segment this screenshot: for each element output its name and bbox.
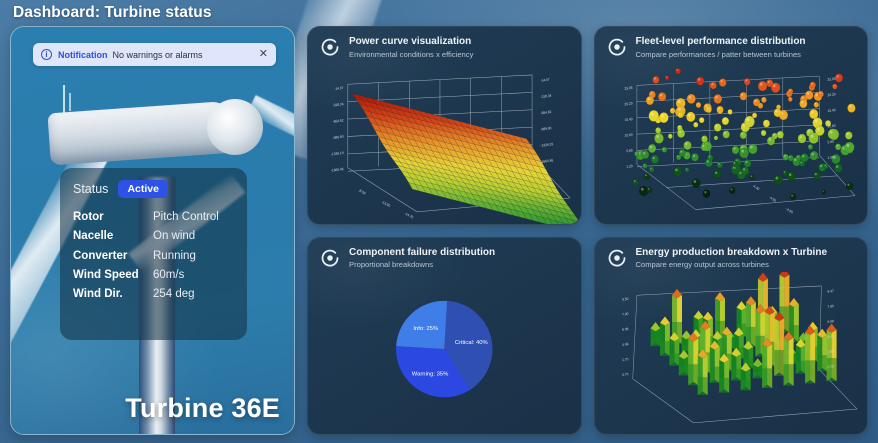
svg-text:Warning: 35%: Warning: 35% — [412, 371, 449, 377]
x-axis-ticks: -4.40-4.50-4.65 — [751, 184, 793, 215]
notification-banner[interactable]: i Notification No warnings or alarms ✕ — [33, 43, 276, 66]
svg-text:15.40: 15.40 — [827, 108, 836, 113]
svg-text:0.70: 0.70 — [827, 364, 834, 369]
turbine-name: Turbine 36E — [125, 393, 280, 424]
card-title: Power curve visualization — [349, 36, 473, 49]
card-title: Fleet-level performance distribution — [636, 36, 806, 49]
card-title-group: Component failure distribution Proportio… — [349, 247, 495, 270]
svg-text:-4.65: -4.65 — [785, 207, 793, 215]
spec-key: Nacelle — [73, 228, 153, 244]
dashboard-layout: i Notification No warnings or alarms ✕ S… — [0, 26, 878, 443]
plot-power-curve[interactable]: -14.07-318.34-654.62-989.90-1326.19-1660… — [308, 61, 581, 224]
spec-row-rotor: Rotor Pitch Control — [73, 209, 234, 225]
card-title: Energy production breakdown x Turbine — [636, 247, 828, 260]
card-header: Component failure distribution Proportio… — [308, 238, 581, 270]
spec-key: Wind Dir. — [73, 286, 153, 302]
svg-text:15.40: 15.40 — [624, 117, 633, 122]
svg-text:4.49: 4.49 — [827, 334, 834, 339]
svg-text:7.90: 7.90 — [621, 311, 628, 316]
svg-text:-318.34: -318.34 — [332, 102, 343, 108]
scatter3d-plot-svg: 25.0520.2015.4010.605.801.20 25.0020.201… — [595, 61, 868, 224]
svg-text:-989.90: -989.90 — [332, 134, 343, 140]
spec-row-nacelle: Nacelle On wind — [73, 228, 234, 244]
svg-text:6.08: 6.08 — [621, 326, 628, 331]
svg-text:25.05: 25.05 — [624, 86, 633, 91]
spec-value: 60m/s — [153, 267, 184, 283]
svg-text:-1660.46: -1660.46 — [540, 158, 553, 164]
card-subtitle: Proportional breakdowns — [349, 260, 495, 269]
svg-text:-14.07: -14.07 — [334, 86, 344, 91]
svg-text:Critical: 40%: Critical: 40% — [455, 340, 488, 346]
spec-row-wind-speed: Wind Speed 60m/s — [73, 267, 234, 283]
turbine-mast-antenna — [69, 93, 71, 111]
x-axis-ticks: -8.59-13.50-14.70 — [358, 188, 414, 219]
svg-text:20.20: 20.20 — [827, 92, 836, 97]
svg-text:9.47: 9.47 — [827, 288, 834, 293]
card-header: Power curve visualization Environmental … — [308, 27, 581, 59]
card-subtitle: Compare performances / patter between tu… — [636, 50, 806, 59]
spec-key: Converter — [73, 248, 153, 264]
svg-text:10.60: 10.60 — [624, 133, 633, 138]
svg-text:-8.59: -8.59 — [358, 188, 366, 195]
svg-text:-4.40: -4.40 — [751, 184, 759, 192]
spec-value: Running — [153, 248, 196, 264]
turbine-hero-card[interactable]: i Notification No warnings or alarms ✕ S… — [10, 26, 295, 435]
card-subtitle: Compare energy output across turbines — [636, 260, 828, 269]
svg-text:-14.07: -14.07 — [540, 78, 550, 83]
svg-text:4.49: 4.49 — [621, 341, 628, 346]
notification-message: No warnings or alarms — [113, 50, 258, 60]
charts-grid: Power curve visualization Environmental … — [307, 26, 868, 435]
spec-row-wind-dir: Wind Dir. 254 deg — [73, 286, 234, 302]
svg-text:-1660.46: -1660.46 — [331, 167, 344, 173]
pie-chart-svg: Critical: 40%Warning: 35%Info: 25% — [308, 272, 581, 435]
card-title-group: Energy production breakdown x Turbine Co… — [636, 247, 828, 270]
gauge-icon — [320, 37, 340, 57]
svg-text:-989.90: -989.90 — [540, 126, 551, 132]
svg-text:5.80: 5.80 — [827, 140, 834, 145]
svg-text:-14.70: -14.70 — [404, 211, 414, 219]
card-header: Energy production breakdown x Turbine Co… — [595, 238, 868, 270]
svg-text:1.99: 1.99 — [827, 349, 834, 354]
gauge-icon — [607, 248, 627, 268]
close-icon[interactable]: ✕ — [258, 49, 269, 60]
svg-text:0.70: 0.70 — [621, 372, 628, 377]
card-header: Fleet-level performance distribution Com… — [595, 27, 868, 59]
svg-text:-654.62: -654.62 — [540, 110, 551, 116]
z-axis-ticks-left: 9.507.906.084.491.700.70 — [621, 296, 628, 376]
svg-text:1.20: 1.20 — [626, 164, 633, 169]
svg-text:25.00: 25.00 — [827, 77, 836, 82]
status-label: Status — [73, 182, 108, 196]
svg-text:-13.50: -13.50 — [381, 200, 391, 208]
card-fleet-performance[interactable]: Fleet-level performance distribution Com… — [594, 26, 869, 225]
status-row: Status Active — [73, 180, 234, 198]
plot-fleet-performance[interactable]: 25.0520.2015.4010.605.801.20 25.0020.201… — [595, 61, 868, 224]
turbine-mast-antenna — [63, 85, 65, 113]
svg-text:20.20: 20.20 — [624, 101, 633, 106]
svg-text:1.70: 1.70 — [621, 357, 628, 362]
svg-text:-1326.19: -1326.19 — [331, 151, 344, 157]
svg-text:-654.62: -654.62 — [332, 118, 343, 124]
svg-text:5.80: 5.80 — [626, 148, 633, 153]
svg-text:-1326.19: -1326.19 — [540, 142, 553, 148]
card-subtitle: Environmental conditions x efficiency — [349, 50, 473, 59]
svg-text:-4.50: -4.50 — [768, 195, 776, 203]
svg-text:-318.34: -318.34 — [540, 94, 551, 100]
svg-text:10.60: 10.60 — [827, 124, 836, 129]
spec-row-converter: Converter Running — [73, 248, 234, 264]
card-title-group: Fleet-level performance distribution Com… — [636, 36, 806, 59]
plot-energy-production[interactable]: 9.507.906.084.491.700.70 9.477.906.084.4… — [595, 272, 868, 435]
svg-text:1.00: 1.00 — [827, 155, 834, 160]
spec-value: 254 deg — [153, 286, 195, 302]
svg-text:Info: 25%: Info: 25% — [413, 326, 438, 332]
gauge-icon — [320, 248, 340, 268]
card-power-curve[interactable]: Power curve visualization Environmental … — [307, 26, 582, 225]
spec-key: Wind Speed — [73, 267, 153, 283]
surface-plot-svg: -14.07-318.34-654.62-989.90-1326.19-1660… — [308, 61, 581, 224]
spec-value: Pitch Control — [153, 209, 219, 225]
svg-text:7.90: 7.90 — [827, 303, 834, 308]
page-title: Dashboard: Turbine status — [13, 4, 212, 22]
bar3d-plot-svg: 9.507.906.084.491.700.70 9.477.906.084.4… — [595, 272, 868, 435]
card-component-failure[interactable]: Component failure distribution Proportio… — [307, 237, 582, 436]
svg-text:6.08: 6.08 — [827, 319, 834, 324]
card-title-group: Power curve visualization Environmental … — [349, 36, 473, 59]
spec-key: Rotor — [73, 209, 153, 225]
turbine-status-panel: Status Active Rotor Pitch Control Nacell… — [60, 168, 247, 340]
hero-column: i Notification No warnings or alarms ✕ S… — [10, 26, 295, 435]
y-axis-ticks-left: 25.0520.2015.4010.605.801.20 — [624, 86, 633, 169]
z-axis-ticks-left: -14.07-318.34-654.62-989.90-1326.19-1660… — [331, 86, 344, 173]
z-axis-ticks-right: -14.07-318.34-654.62-989.90-1326.19-1660… — [540, 78, 553, 165]
card-energy-production[interactable]: Energy production breakdown x Turbine Co… — [594, 237, 869, 436]
spec-value: On wind — [153, 228, 195, 244]
card-title: Component failure distribution — [349, 247, 495, 260]
svg-text:9.50: 9.50 — [621, 296, 628, 301]
gauge-icon — [607, 37, 627, 57]
status-badge: Active — [118, 180, 168, 198]
info-icon: i — [41, 49, 52, 60]
notification-label: Notification — [58, 50, 108, 60]
plot-component-failure[interactable]: Critical: 40%Warning: 35%Info: 25% — [308, 272, 581, 435]
turbine-hub — [207, 99, 263, 155]
